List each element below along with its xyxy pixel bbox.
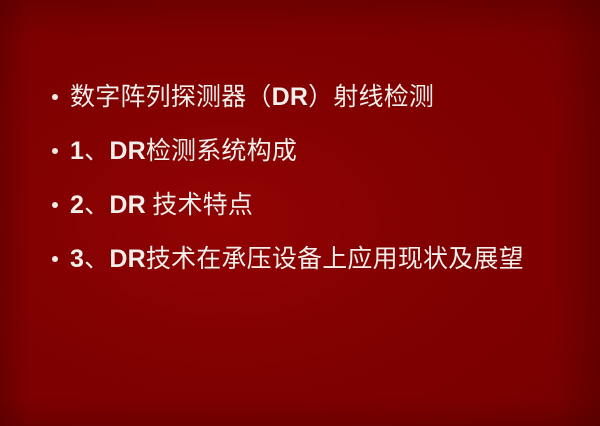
bullet-3-segment-3: DR — [109, 191, 146, 219]
bullet-text-4: 3、DR技术在承压设备上应用现状及展望 — [70, 232, 578, 287]
list-item: 数字阵列探测器（DR）射线检测 — [46, 70, 578, 124]
list-item: 1、DR检测系统构成 — [46, 124, 578, 178]
bullet-4-segment-4: 技术在承压设备上应用现状及展望 — [146, 246, 524, 273]
bullet-1-segment-3: ）射线检测 — [308, 84, 434, 111]
bullet-3-segment-1: 2 — [70, 191, 84, 219]
round-bullet-icon — [46, 232, 70, 286]
bullet-3-segment-2: 、 — [84, 192, 109, 219]
bullet-2-segment-2: 、 — [84, 138, 109, 165]
bullet-4-segment-3: DR — [109, 245, 146, 273]
round-bullet-icon — [46, 124, 70, 178]
round-bullet-icon — [46, 178, 70, 232]
bullet-text-3: 2、DR 技术特点 — [70, 178, 578, 233]
bullet-2-segment-4: 检测系统构成 — [146, 138, 297, 165]
bullet-4-segment-1: 3 — [70, 245, 84, 273]
bullet-2-segment-1: 1 — [70, 137, 84, 165]
list-item: 2、DR 技术特点 — [46, 178, 578, 232]
bullet-2-segment-3: DR — [109, 137, 146, 165]
bullet-3-segment-4: 技术特点 — [146, 192, 253, 219]
list-item: 3、DR技术在承压设备上应用现状及展望 — [46, 232, 578, 286]
slide-body-bullet-list: 数字阵列探测器（DR）射线检测 1、DR检测系统构成 2、DR 技术特点 3、D… — [46, 70, 578, 286]
bullet-4-segment-2: 、 — [84, 246, 109, 273]
presentation-slide: 数字阵列探测器（DR）射线检测 1、DR检测系统构成 2、DR 技术特点 3、D… — [0, 0, 600, 426]
bullet-1-segment-2: DR — [272, 83, 309, 111]
bullet-text-2: 1、DR检测系统构成 — [70, 124, 578, 179]
bullet-1-segment-1: 数字阵列探测器（ — [70, 84, 272, 111]
bullet-text-1: 数字阵列探测器（DR）射线检测 — [70, 70, 578, 125]
round-bullet-icon — [46, 70, 70, 124]
